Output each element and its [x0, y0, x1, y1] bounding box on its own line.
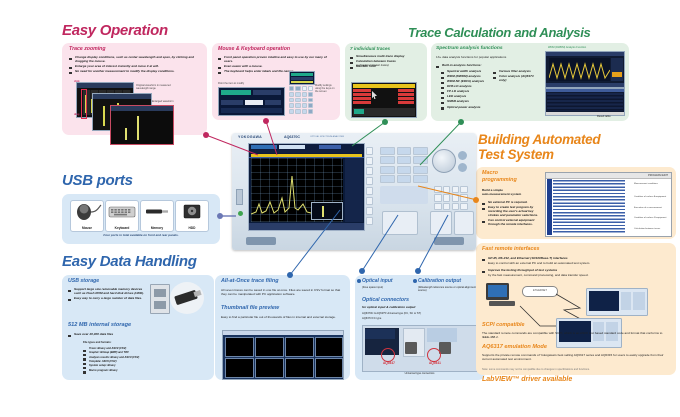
- caption-point-item: Point the item to modify: [218, 82, 244, 85]
- optical-connectors-line2: AQ6373 FC type: [362, 317, 381, 320]
- list-item: Calculation between traces: [350, 59, 424, 63]
- all-at-once-title: All-at-Once trace filing: [221, 278, 279, 284]
- list-item: System setup: Binary: [83, 364, 193, 367]
- list-item: Spectral width analysis: [441, 69, 489, 73]
- usb-port-mouse: Mouse: [70, 200, 104, 232]
- softkey[interactable]: [366, 187, 373, 195]
- softkey[interactable]: [366, 147, 373, 155]
- section-title-building-line2: Test System: [478, 148, 554, 162]
- callout-dot-usb-ports: [217, 213, 223, 219]
- callout-dot-mouse-keyboard: [263, 118, 269, 124]
- macro-note: Condition of surface B equipment: [634, 217, 668, 219]
- usb-port-keyboard: Keyboard: [105, 200, 139, 232]
- calibration-output-title: Calibration output: [418, 278, 461, 284]
- usb-port-label: HDD: [176, 226, 208, 230]
- keypad-key[interactable]: [302, 103, 307, 108]
- on-screen-keypad[interactable]: [289, 86, 313, 114]
- device-numeric-keypad[interactable]: [434, 186, 468, 210]
- softkey[interactable]: [366, 177, 373, 185]
- usb-stick-photo: [170, 282, 204, 314]
- thumbnail-preview-body: Easy to find a particular file out of th…: [221, 315, 345, 319]
- device-subtitle: OPTICAL SPECTRUM ANALYZER: [310, 136, 344, 138]
- optical-input-bullet-dot: [357, 279, 361, 283]
- mouse-icon: [71, 201, 103, 221]
- screenshot-value-readout: [289, 71, 315, 85]
- function-key[interactable]: [397, 175, 412, 183]
- keypad-key[interactable]: [289, 92, 294, 97]
- screenshot-macro-editor: PROGRAM EDIT Measurement conditions Cond…: [545, 172, 672, 237]
- mouse-keyboard-title: Mouse & Keyboard operation: [218, 46, 290, 52]
- keypad-key[interactable]: [302, 86, 307, 91]
- numeric-key[interactable]: [443, 194, 451, 201]
- function-key[interactable]: [413, 147, 428, 155]
- device-rotary-knob[interactable]: [432, 149, 456, 173]
- usb-port-hdd: HDD: [175, 200, 209, 232]
- numeric-key[interactable]: [452, 203, 460, 210]
- list-item: FP-LD analysis: [441, 89, 489, 93]
- numeric-key[interactable]: [460, 203, 468, 210]
- device-optical-input-port[interactable]: [382, 211, 418, 235]
- remote-bullet-0-body: Easy to control with an external PC and …: [488, 261, 590, 265]
- caption-enlarged-waveform: Enlarged waveform: [152, 100, 180, 103]
- device-calibration-output-port[interactable]: [430, 211, 452, 235]
- list-item: Front panel operation proven intuitive a…: [218, 55, 336, 63]
- spectrum-analysis-lead: 13+ data analysis functions for popular …: [436, 55, 506, 59]
- screenshot-enlarged-waveform: [110, 105, 174, 145]
- list-item: SMSR analysis: [441, 99, 489, 103]
- softkey[interactable]: [366, 157, 373, 165]
- macro-bullets: No external PC is required. Easy to crea…: [482, 200, 540, 227]
- keypad-key[interactable]: [308, 109, 313, 114]
- optical-input-note: (Free space input): [362, 286, 383, 289]
- device-model: AQ6370C: [284, 135, 300, 139]
- numeric-key[interactable]: [452, 186, 460, 193]
- photo-universal-connectors: AQ9447 AQ9441: [362, 325, 479, 372]
- macro-title-line1: Macro: [482, 170, 498, 176]
- device-power-led: [238, 211, 243, 216]
- softkey[interactable]: [366, 197, 373, 205]
- numeric-key[interactable]: [434, 186, 442, 193]
- softkey[interactable]: [366, 167, 373, 175]
- brochure-page: Easy Operation Trace zooming Change disp…: [0, 0, 680, 417]
- usb-socket-photo: [150, 284, 170, 314]
- softkey[interactable]: [366, 207, 373, 215]
- list-item: Template: ASCII (CSV): [83, 360, 193, 363]
- keypad-key[interactable]: [289, 109, 294, 114]
- macro-note: Execution of a measurement: [634, 207, 668, 209]
- keypad-key[interactable]: [302, 98, 307, 103]
- section-title-data-handling: Easy Data Handling: [62, 253, 197, 270]
- keypad-key[interactable]: [295, 92, 300, 97]
- list-item: Graphic: Bitmap (BMP) and TIFF: [83, 351, 193, 354]
- list-item: Enlarge your area of interest instantly …: [69, 64, 202, 68]
- device-foot-right: [434, 237, 464, 245]
- keypad-key[interactable]: [295, 86, 300, 91]
- display-zoom-window: [311, 202, 343, 220]
- spectrum-functions-col1: Spectral width analysis WDM (DWDM) analy…: [441, 69, 489, 110]
- labview-driver-text: LabVIEW™ driver available: [482, 376, 572, 383]
- wdm-analysis-shot-title: WDM (DWDM) Analysis Function: [548, 46, 586, 49]
- keypad-key[interactable]: [302, 109, 307, 114]
- spectrum-builtin-label: Built-in analysis functions:: [436, 63, 482, 67]
- usb-ports-note: Four ports in total available on front a…: [62, 233, 220, 237]
- usb-storage-title: USB storage: [68, 278, 99, 284]
- macro-title-line2: programming: [482, 177, 517, 183]
- callout-dot-seven-traces: [382, 119, 388, 125]
- hdd-icon: [176, 201, 208, 221]
- scpi-title: SCPI compatible: [482, 322, 525, 328]
- list-item: Optical power analysis: [441, 105, 489, 109]
- list-item: Support large size removable memory devi…: [68, 287, 146, 295]
- numeric-key[interactable]: [460, 186, 468, 193]
- macro-note: Condition of surface A equipment: [634, 196, 668, 198]
- mouse-keyboard-bullets: Front panel operation proven intuitive a…: [218, 55, 336, 74]
- device-foot-left: [246, 237, 276, 245]
- display-softkey-column[interactable]: [345, 158, 363, 222]
- keypad-key[interactable]: [289, 103, 294, 108]
- device-usb-ports[interactable]: [236, 189, 243, 205]
- spectrum-analysis-title: Spectrum analysis functions: [436, 46, 503, 51]
- keypad-key[interactable]: [295, 103, 300, 108]
- function-key[interactable]: [413, 175, 428, 183]
- caption-original-waveform: Original waveform in measured wavelength…: [136, 84, 182, 90]
- device-brand: YOKOGAWA: [238, 135, 262, 139]
- function-key[interactable]: [380, 175, 395, 183]
- callout-dot-trace-zooming: [203, 132, 209, 138]
- keypad-key[interactable]: [308, 103, 313, 108]
- list-item: Various filter analysis: [493, 69, 541, 73]
- screenshot-panel-settings: [218, 87, 285, 116]
- device-arrow-up-button[interactable]: [458, 151, 467, 160]
- keypad-key[interactable]: [308, 98, 313, 103]
- screenshot-wdm-result-table: [545, 88, 625, 116]
- spectrum-functions-col2: Various filter analysis Color analysis (…: [493, 69, 541, 83]
- function-key[interactable]: [413, 166, 428, 174]
- list-item: Simultaneous multi-trace display: [350, 54, 424, 58]
- wdm-trace: [549, 58, 610, 81]
- calibration-output-bullet-dot: [413, 279, 417, 283]
- list-item: Improve the testing throughput of test s…: [482, 268, 670, 272]
- calibration-output-note: (Wavelength reference source or optical …: [418, 286, 480, 293]
- callout-dot-calibration-output: [415, 268, 421, 274]
- list-item: The keyboard helps enter labels and file…: [218, 69, 336, 73]
- callout-dot-all-at-once: [287, 272, 293, 278]
- device-extra-port[interactable]: [454, 211, 474, 235]
- keypad-key[interactable]: [289, 98, 294, 103]
- wdm-result-caption: Result table: [597, 115, 611, 118]
- emulation-note: Note: some commands may not be compatibl…: [482, 368, 670, 371]
- section-title-usb-ports: USB ports: [62, 172, 133, 189]
- trace-zooming-bullets: Change display conditions, such as cente…: [69, 55, 202, 74]
- seven-traces-subnote: (subtraction between traces): [356, 64, 389, 67]
- section-title-trace-calculation: Trace Calculation and Analysis: [408, 25, 590, 40]
- device-arrow-down-button[interactable]: [458, 163, 467, 172]
- list-item: Can control external equipment through t…: [482, 218, 540, 226]
- callout-dot-macro: [473, 197, 479, 203]
- function-key[interactable]: [380, 147, 395, 155]
- keyboard-icon: [106, 201, 138, 221]
- connector-label-aq9447: AQ9447: [383, 361, 395, 365]
- section-title-building-line1: Building Automated: [478, 133, 600, 147]
- trace-zooming-title: Trace zooming: [69, 46, 106, 52]
- numeric-key[interactable]: [434, 203, 442, 210]
- screenshot-wdm-waveform: [545, 51, 625, 88]
- file-formats-label: File types and formats:: [83, 341, 111, 344]
- macro-lead-line2: auto-measurement system: [482, 192, 521, 196]
- numeric-key[interactable]: [443, 203, 451, 210]
- list-item: Color analysis (AQ6373 only): [493, 74, 541, 82]
- list-item: GP-IB, RS-232, and Ethernet (10/100Base-…: [482, 256, 670, 260]
- device-function-keys[interactable]: [380, 147, 428, 183]
- internal-storage-bullet: Save over 20,000 data files: [68, 332, 113, 336]
- list-item: No external PC is required.: [482, 200, 540, 204]
- function-key[interactable]: [397, 147, 412, 155]
- list-item: LED analysis: [441, 94, 489, 98]
- macro-editor-title: PROGRAM EDIT: [648, 174, 668, 177]
- keypad-key[interactable]: [295, 109, 300, 114]
- usb-port-label: Mouse: [71, 226, 103, 230]
- list-item: Macro program: Binary: [83, 369, 193, 372]
- softkey[interactable]: [366, 217, 373, 225]
- list-item: No need for another measurement to modif…: [69, 69, 202, 73]
- keypad-key[interactable]: [295, 98, 300, 103]
- scpi-body: The standard remote commands are compati…: [482, 331, 670, 339]
- keypad-key[interactable]: [289, 86, 294, 91]
- usb-port-memory: Memory: [140, 200, 174, 232]
- list-item: Change display conditions, such as cente…: [69, 55, 202, 63]
- caption-click: click: [74, 80, 80, 83]
- list-item: Easy to create test program by recording…: [482, 205, 540, 217]
- callout-dot-optical-input: [359, 268, 365, 274]
- macro-note: Calculation between traces: [634, 228, 668, 230]
- numeric-key[interactable]: [460, 194, 468, 201]
- function-key[interactable]: [413, 156, 428, 164]
- device-photo-aq6370c: YOKOGAWA AQ6370C OPTICAL SPECTRUM ANALYZ…: [232, 133, 476, 250]
- thumbnail-preview-title: Thumbnail file preview: [221, 305, 279, 311]
- optical-connectors-title: Optical connectors: [362, 297, 409, 303]
- function-key[interactable]: [380, 156, 395, 164]
- universal-connectors-caption: Universal type connectors: [362, 372, 477, 375]
- screenshot-trace-menu: [351, 82, 417, 118]
- list-item: Easy way to carry a large number of data…: [68, 296, 146, 300]
- macro-note: Measurement conditions: [634, 183, 668, 185]
- keypad-key[interactable]: [302, 92, 307, 97]
- numeric-key[interactable]: [434, 194, 442, 201]
- all-at-once-body: All seven traces can be saved in one fil…: [221, 288, 345, 296]
- keypad-key[interactable]: [308, 86, 313, 91]
- optical-connectors-line1: AQ6370C & AQ6375 Universal type (FC, SC …: [362, 312, 421, 315]
- optical-connectors-subtitle: for optical input & calibration output: [362, 305, 415, 309]
- connector-label-aq9441: AQ9441: [429, 361, 441, 365]
- screenshot-thumbnail-browser: [222, 330, 344, 380]
- file-formats-list: Trace: Binary and ASCII (CSV) Graphic: B…: [83, 347, 193, 373]
- usb-storage-bullets: Support large size removable memory devi…: [68, 287, 146, 301]
- device-softkeys[interactable]: [366, 147, 373, 225]
- device-display[interactable]: [248, 143, 365, 231]
- remote-interfaces-title: Fast remote interfaces: [482, 246, 540, 252]
- numeric-key[interactable]: [452, 194, 460, 201]
- list-item: WDM (DWDM) analysis: [441, 74, 489, 78]
- keypad-key[interactable]: [308, 92, 313, 97]
- function-key[interactable]: [397, 166, 412, 174]
- emulation-body: Supports the private remote commands of …: [482, 353, 670, 361]
- section-title-easy-operation: Easy Operation: [62, 22, 168, 39]
- list-item: Trace: Binary and ASCII (CSV): [83, 347, 193, 350]
- diagram-instrument-1: [586, 288, 648, 316]
- function-key[interactable]: [380, 166, 395, 174]
- device-mode-block[interactable]: [380, 186, 428, 204]
- list-item: Even easier with a mouse.: [218, 64, 336, 68]
- list-item: Analysis results: Binary and ASCII (CSV): [83, 356, 193, 359]
- usb-port-label: Memory: [141, 226, 173, 230]
- remote-bullet-1-body: by the fast measurement, command process…: [488, 273, 588, 277]
- seven-traces-title: 7 individual traces: [350, 46, 390, 51]
- caption-drag: drag: [74, 113, 79, 116]
- callout-dot-spectrum-analysis: [458, 119, 464, 125]
- list-item: WDM-NF (EDFA) analysis: [441, 79, 489, 83]
- usb-port-label: Keyboard: [106, 226, 138, 230]
- caption-modify-settings: Modify settings using the keys on the sc…: [315, 84, 337, 93]
- usb-memory-icon: [141, 201, 173, 221]
- optical-input-title: Optical input: [362, 278, 393, 284]
- function-key[interactable]: [397, 156, 412, 164]
- numeric-key[interactable]: [443, 186, 451, 193]
- internal-storage-title: 512 MB internal storage: [68, 322, 131, 328]
- list-item: DFB-LD analysis: [441, 84, 489, 88]
- emulation-title: AQ6317 emulation Mode: [482, 344, 547, 350]
